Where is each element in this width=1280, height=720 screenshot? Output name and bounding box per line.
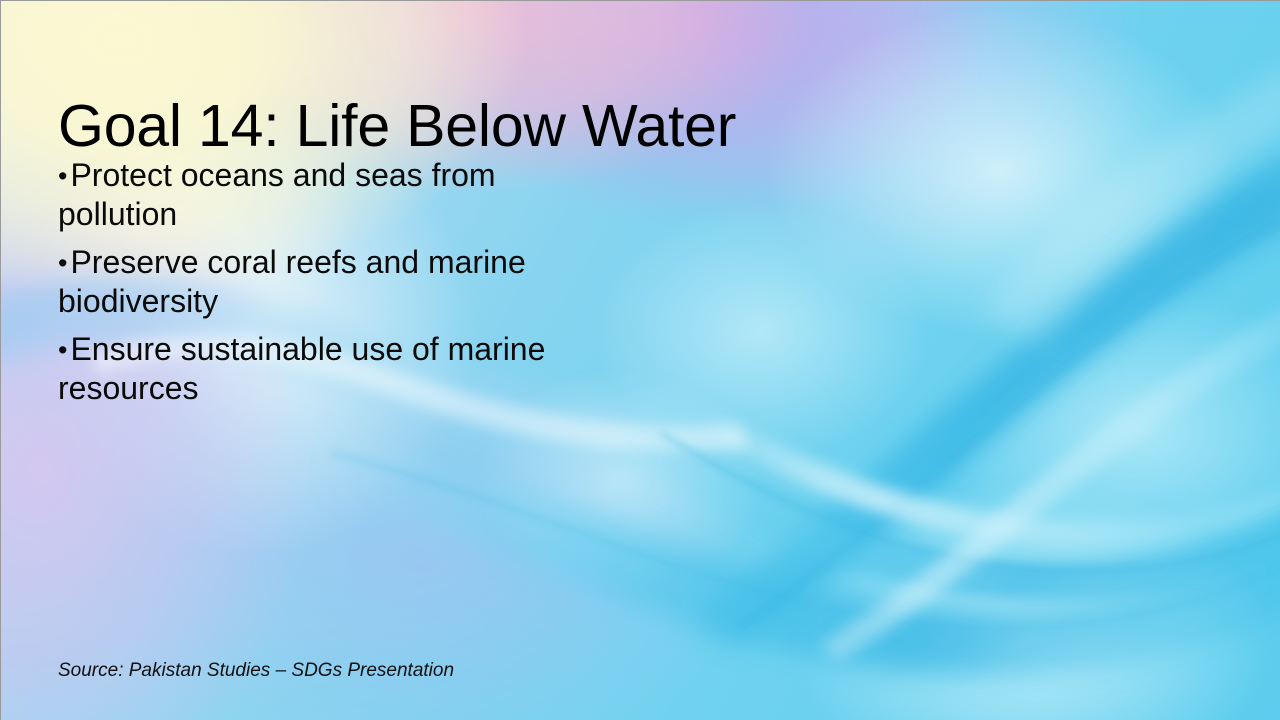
bullet-marker-icon: • — [58, 248, 70, 278]
list-item: •Protect oceans and seas from pollution — [58, 156, 618, 233]
list-item: •Preserve coral reefs and marine biodive… — [58, 243, 618, 320]
bullet-list: •Protect oceans and seas from pollution … — [58, 156, 618, 417]
list-item-label: Ensure sustainable use of marine resourc… — [58, 331, 545, 406]
slide-content: Goal 14: Life Below Water •Protect ocean… — [1, 1, 1280, 720]
list-item-label: Protect oceans and seas from pollution — [58, 157, 496, 232]
bullet-marker-icon: • — [58, 161, 70, 191]
source-caption: Source: Pakistan Studies – SDGs Presenta… — [58, 659, 454, 683]
list-item-label: Preserve coral reefs and marine biodiver… — [58, 244, 526, 319]
presentation-slide: Goal 14: Life Below Water •Protect ocean… — [0, 0, 1280, 720]
bullet-marker-icon: • — [58, 335, 70, 365]
list-item: •Ensure sustainable use of marine resour… — [58, 330, 618, 407]
page-title: Goal 14: Life Below Water — [58, 95, 736, 159]
